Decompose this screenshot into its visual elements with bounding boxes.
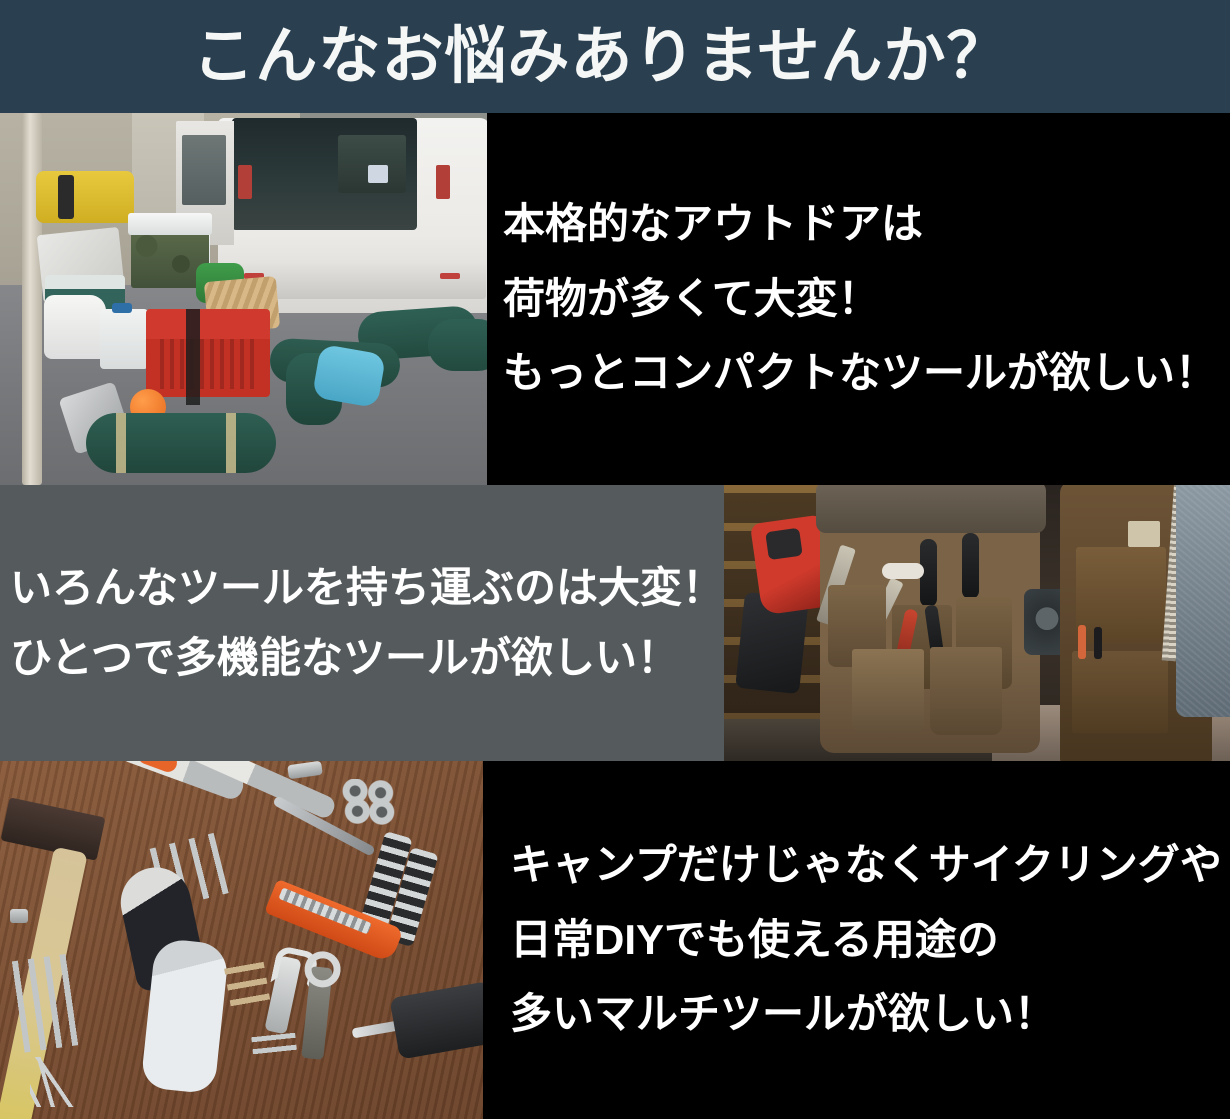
work-vest-label [1128,521,1160,547]
minivan-side-window [182,135,226,205]
tent-strap-right [226,413,236,473]
work-vest-pocket-upper [1076,547,1166,643]
copy-line: 日常DIYでも使える用途の [510,903,1230,978]
nails-pile [30,1057,92,1107]
minivan-loaded-with-camping-gear-photo [0,113,487,485]
work-vest-pocket-lower [1072,651,1168,733]
screwdriver-handle-right [962,533,979,599]
washers-pile [340,779,398,825]
copy-line: 本格的なアウトドアは [503,187,1230,262]
tent-bag-foreground [86,413,276,473]
minivan-taillight-left [238,165,252,199]
bumper-reflector-right [440,273,460,279]
section-heavy-luggage-text: 本格的なアウトドアは 荷物が多くて大変！ もっとコンパクトなツールが欲しい！ [487,113,1230,485]
tool-pouch-top-rim [816,485,1046,533]
section-multi-purpose-text: キャンプだけじゃなくサイクリングや 日常DIYでも使える用途の 多いマルチツール… [483,761,1230,1119]
loose-screw [10,909,28,923]
header-banner: こんなお悩みありませんか？ [0,0,1230,113]
section-many-tools: いろんなツールを持ち運ぶのは大変！ ひとつで多機能なツールが欲しい！ [0,485,1230,761]
section-heavy-luggage: 本格的なアウトドアは 荷物が多くて大変！ もっとコンパクトなツールが欲しい！ [0,113,1230,485]
cooler-box-label [368,165,388,183]
section-many-tools-text: いろんなツールを持ち運ぶのは大変！ ひとつで多機能なツールが欲しい！ [0,485,724,761]
copy-line: キャンプだけじゃなくサイクリングや [510,828,1230,903]
hex-key-set-left [8,953,86,1053]
vest-pen-black [1094,627,1102,659]
small-allen-keys [251,1029,297,1057]
copy-line: もっとコンパクトなツールが欲しい！ [503,336,1230,411]
water-jug [100,309,148,369]
vest-pen-orange [1078,625,1086,659]
hand-tools-on-wooden-table-photo [0,761,483,1119]
red-crate [146,309,270,397]
tent-strap-left [116,413,126,473]
copy-line: 多いマルチツールが欲しい！ [510,977,1230,1052]
tent-bag-right-edge [428,319,487,371]
tool-belt-pouch-photo [724,485,1230,761]
drain-pipe [22,113,42,485]
white-plastic-bag [44,295,106,359]
copy-line: 荷物が多くて大変！ [503,262,1230,337]
red-crate-strap [186,309,200,405]
yellow-duffel-bag [36,171,134,223]
copy-line: ひとつで多機能なツールが欲しい！ [10,623,724,693]
minivan-taillight-right [436,165,450,199]
pouch-front-pocket-right [930,647,1002,735]
brand-badge [882,563,924,579]
section-multi-purpose: キャンプだけじゃなくサイクリングや 日常DIYでも使える用途の 多いマルチツール… [0,761,1230,1119]
needle-nose-pliers-white [140,938,229,1095]
camo-storage-box-lid [128,213,212,235]
page-title: こんなお悩みありませんか？ [192,26,1037,88]
pouch-front-pocket-left [852,649,924,733]
water-jug-cap [112,303,132,313]
promo-page: こんなお悩みありませんか？ [0,0,1230,1119]
grey-shirt-sleeve [1176,485,1230,717]
copy-line: いろんなツールを持ち運ぶのは大変！ [10,553,724,623]
cooler-box-in-trunk [338,135,406,193]
